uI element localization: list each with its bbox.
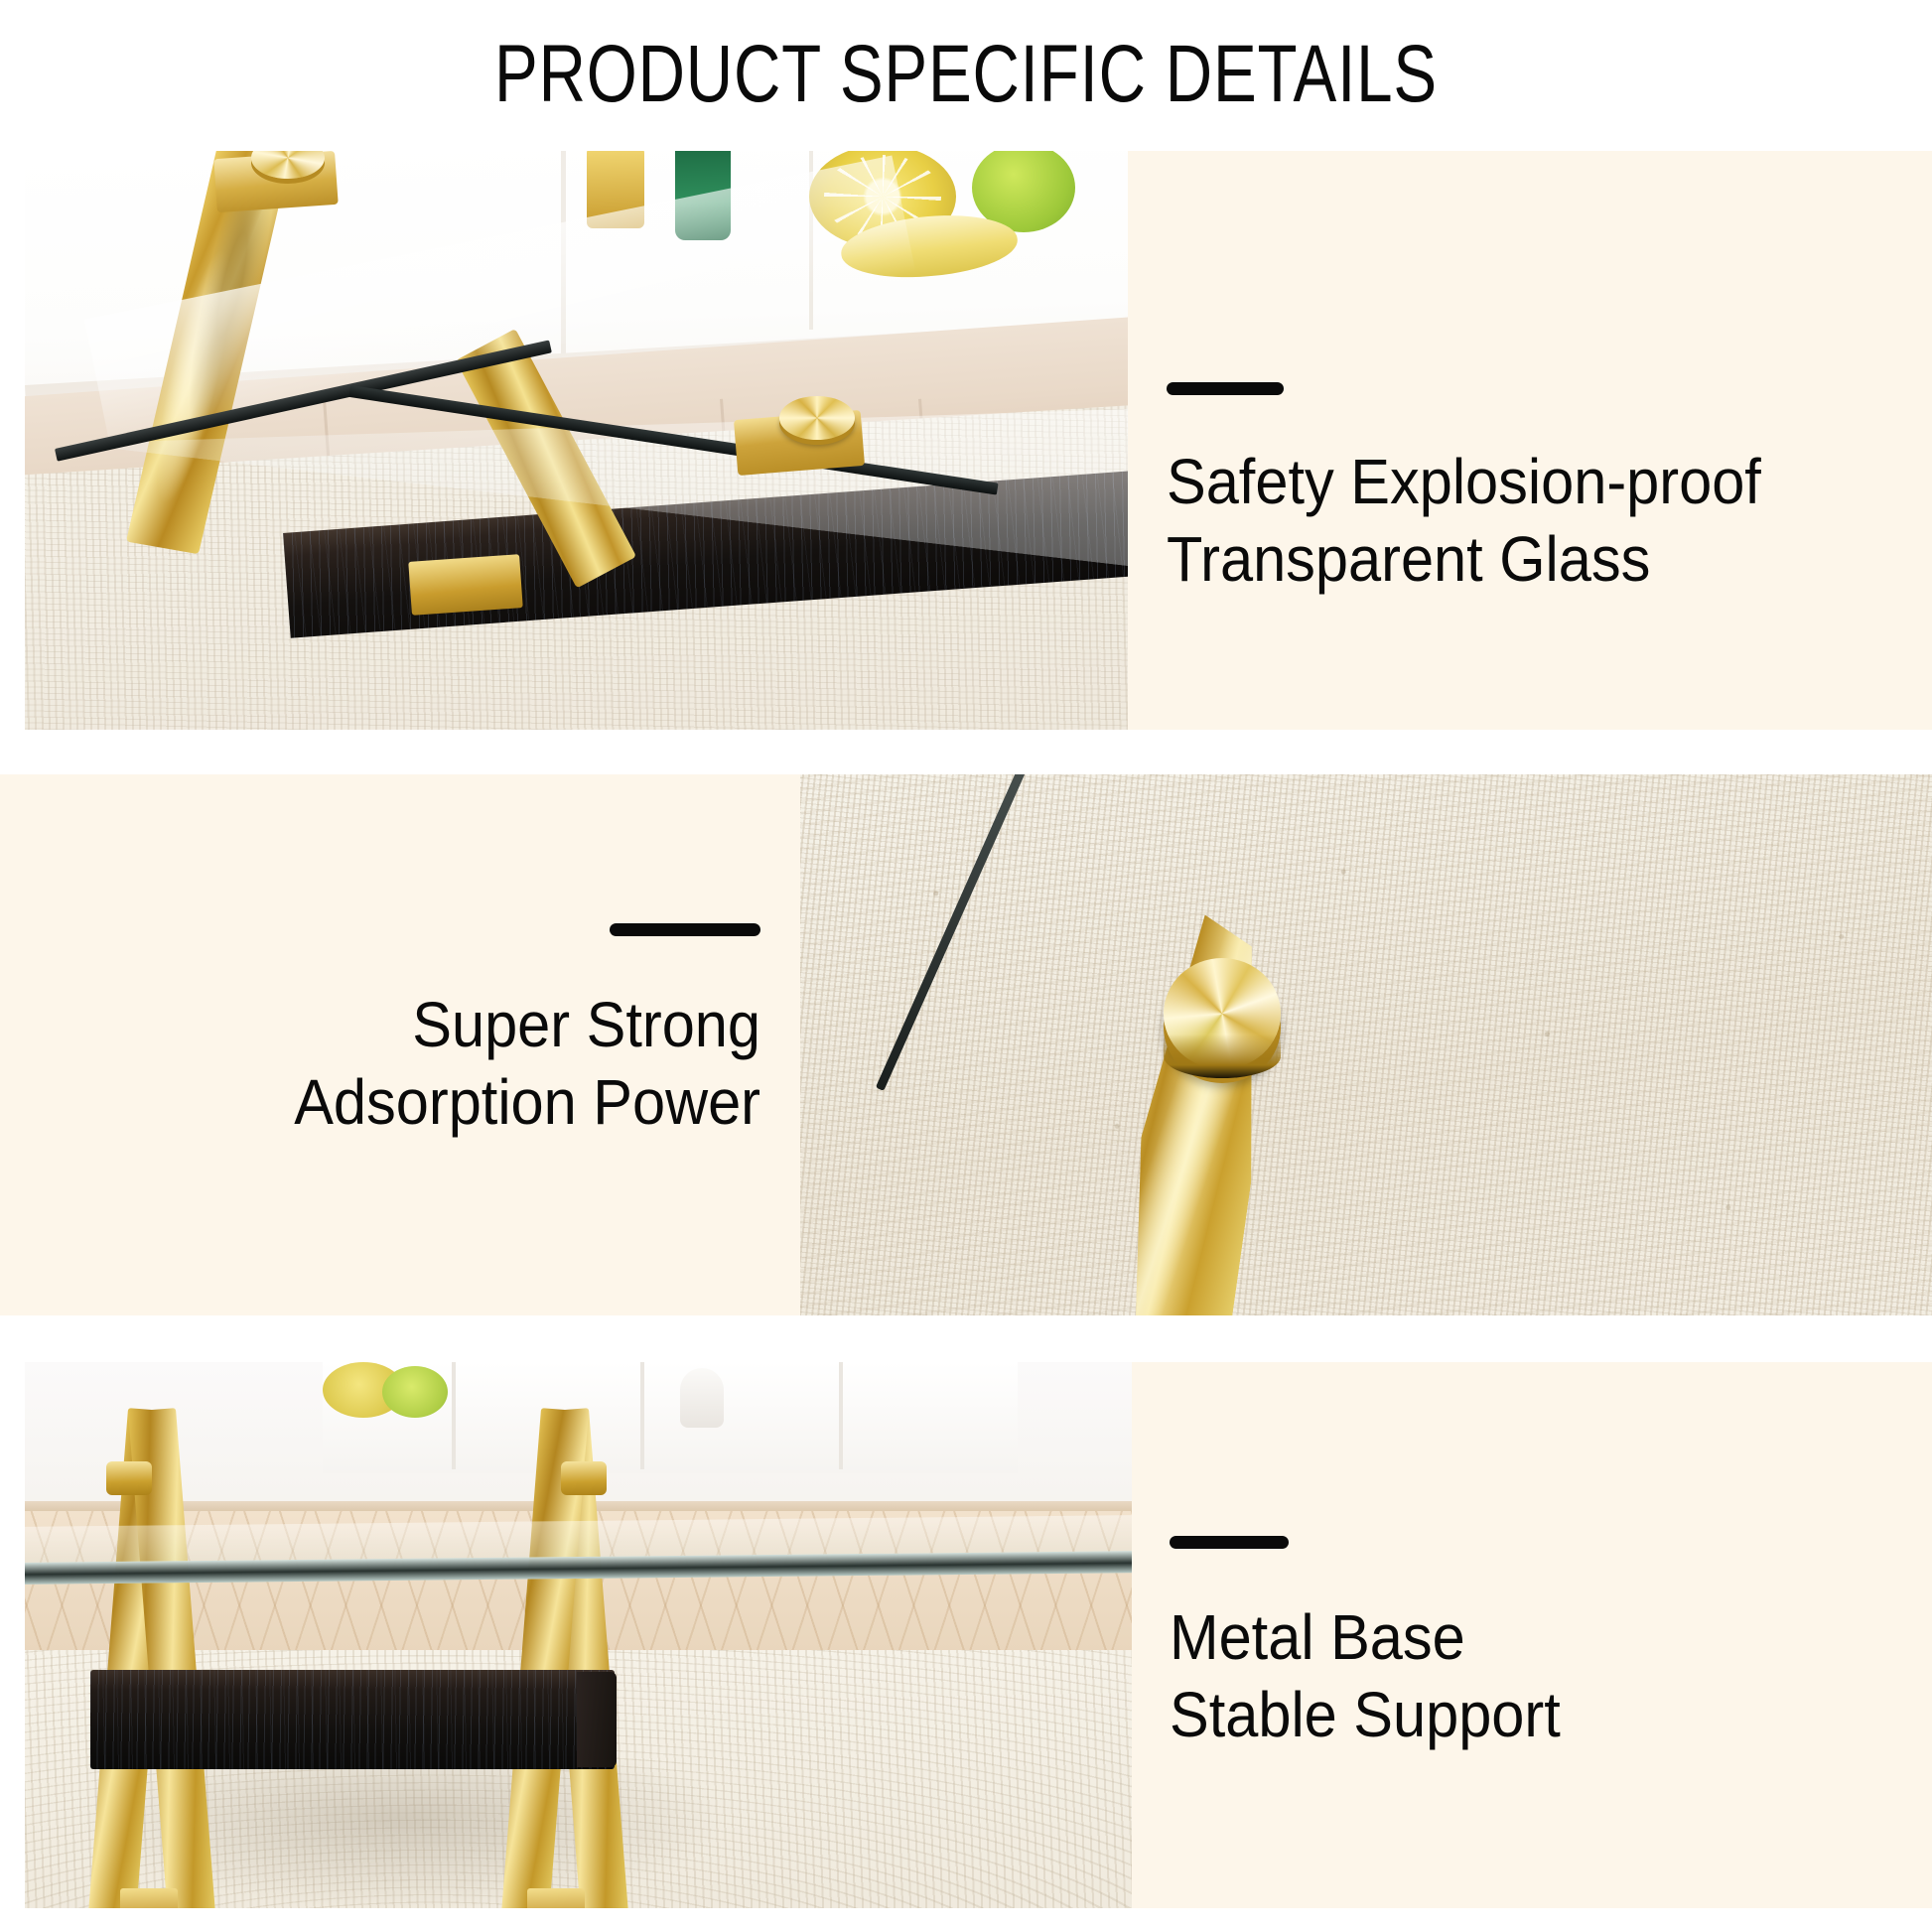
knob-shadow-ring <box>1164 1035 1281 1078</box>
beam-end-cap <box>577 1672 617 1767</box>
feature-adsorption-caption-panel: Super Strong Adsorption Power <box>0 774 800 1315</box>
feature-glass-photo <box>25 151 1128 730</box>
cabinet-seam <box>640 1362 644 1469</box>
vase <box>680 1368 724 1428</box>
carpet-specks <box>800 774 1932 1315</box>
feature-base-photo <box>25 1362 1132 1908</box>
gold-suction-knob <box>106 1461 152 1495</box>
gold-leg-foot <box>120 1888 178 1908</box>
caption-dash-icon <box>1167 382 1284 395</box>
gold-leg-foot <box>527 1888 585 1908</box>
caption-dash-icon <box>610 923 760 936</box>
page-title: PRODUCT SPECIFIC DETAILS <box>194 30 1739 119</box>
feature-base-caption: Metal Base Stable Support <box>1170 1536 1589 1753</box>
feature-base-line2: Stable Support <box>1170 1676 1561 1753</box>
feature-glass-line2: Transparent Glass <box>1167 520 1761 598</box>
product-details-page: PRODUCT SPECIFIC DETAILS Safety Explosio… <box>0 0 1932 1932</box>
feature-adsorption-photo <box>800 774 1932 1315</box>
cabinet-seam <box>839 1362 843 1469</box>
feature-glass-caption-panel: Safety Explosion-proof Transparent Glass <box>1128 151 1932 730</box>
gold-suction-knob <box>561 1461 607 1495</box>
feature-adsorption-line1: Super Strong <box>114 986 760 1063</box>
feature-base-line1: Metal Base <box>1170 1598 1561 1676</box>
gold-leg-foot <box>408 554 522 616</box>
feature-glass-line1: Safety Explosion-proof <box>1167 443 1761 520</box>
feature-glass-caption: Safety Explosion-proof Transparent Glass <box>1167 382 1806 598</box>
gold-suction-knob <box>779 396 855 440</box>
feature-base-caption-panel: Metal Base Stable Support <box>1132 1362 1932 1908</box>
feature-adsorption-caption: Super Strong Adsorption Power <box>66 923 760 1141</box>
caption-dash-icon <box>1170 1536 1289 1549</box>
cabinet-seam <box>452 1362 456 1469</box>
feature-adsorption-line2: Adsorption Power <box>114 1063 760 1141</box>
wood-grain <box>90 1670 615 1769</box>
lime-fruit <box>382 1366 448 1418</box>
